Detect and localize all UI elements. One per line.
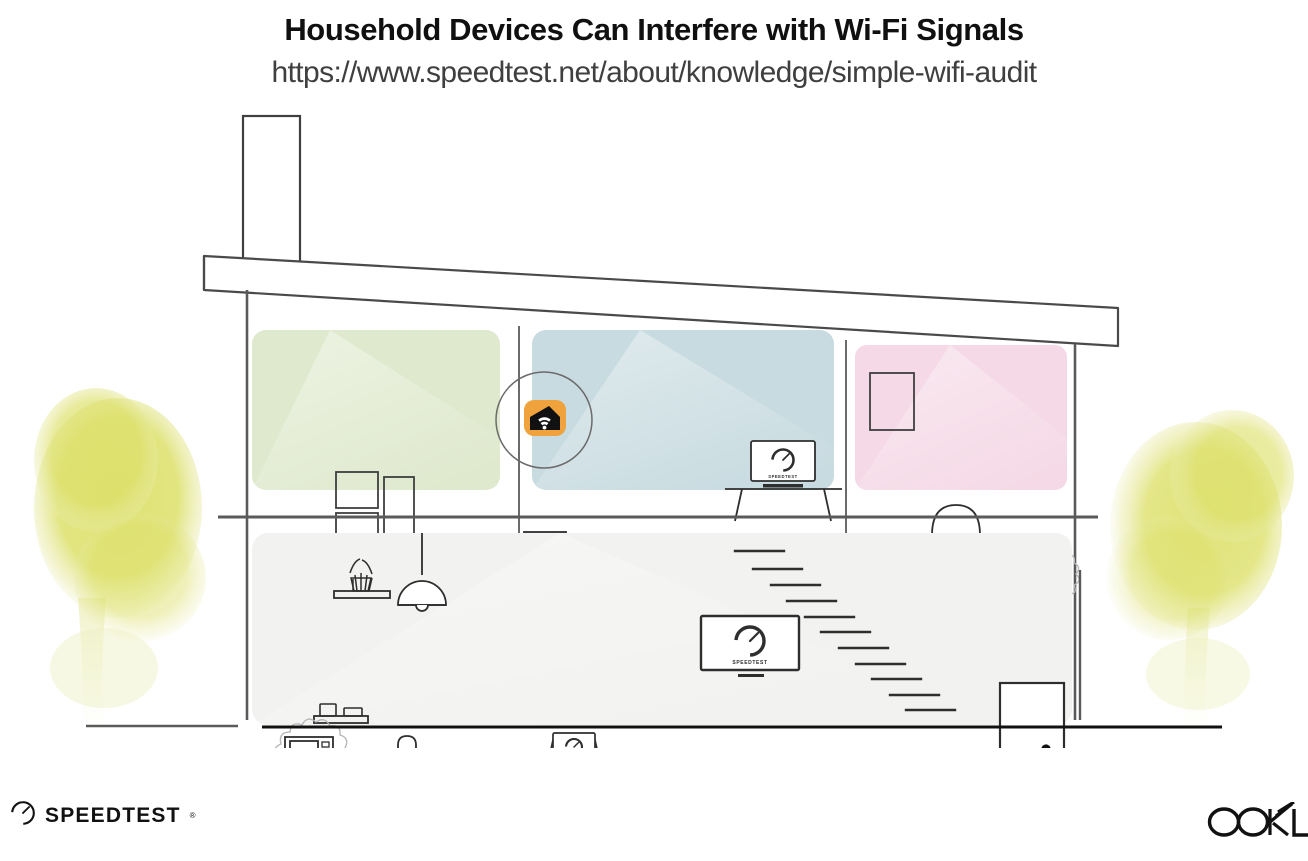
room-nursery-pink xyxy=(855,345,1067,490)
tree-right xyxy=(1106,410,1294,724)
tv-monitor-blue-room: SPEEDTEST xyxy=(751,441,815,488)
header: Household Devices Can Interfere with Wi-… xyxy=(0,0,1308,94)
speedtest-logo[interactable]: SPEEDTEST ® xyxy=(10,800,196,831)
room-ground-floor xyxy=(252,533,1072,725)
laptop: SPEEDTEST xyxy=(547,733,601,748)
speedtest-gauge-icon xyxy=(10,800,36,831)
television: SPEEDTEST xyxy=(701,616,799,677)
ookla-wordmark-svg: ® xyxy=(1206,802,1308,842)
infographic-page: Household Devices Can Interfere with Wi-… xyxy=(0,0,1308,861)
tree-left xyxy=(34,388,206,724)
ookla-logo[interactable]: ® xyxy=(1206,802,1308,847)
svg-text:SPEEDTEST: SPEEDTEST xyxy=(768,474,797,479)
speedtest-registered-mark: ® xyxy=(190,811,196,820)
chimney xyxy=(243,116,300,271)
kitchen-sink-faucet xyxy=(398,736,416,748)
speedtest-wordmark: SPEEDTEST xyxy=(45,804,181,828)
house-cutaway-svg: SPEEDTEST xyxy=(0,108,1308,748)
microwave xyxy=(285,737,333,748)
source-url: https://www.speedtest.net/about/knowledg… xyxy=(0,52,1308,94)
page-title: Household Devices Can Interfere with Wi-… xyxy=(0,10,1308,50)
footer: SPEEDTEST ® ® xyxy=(0,780,1308,861)
house-illustration: SPEEDTEST xyxy=(0,108,1308,748)
svg-text:SPEEDTEST: SPEEDTEST xyxy=(732,660,767,666)
door[interactable] xyxy=(1000,683,1064,748)
wifi-router[interactable] xyxy=(524,400,566,436)
